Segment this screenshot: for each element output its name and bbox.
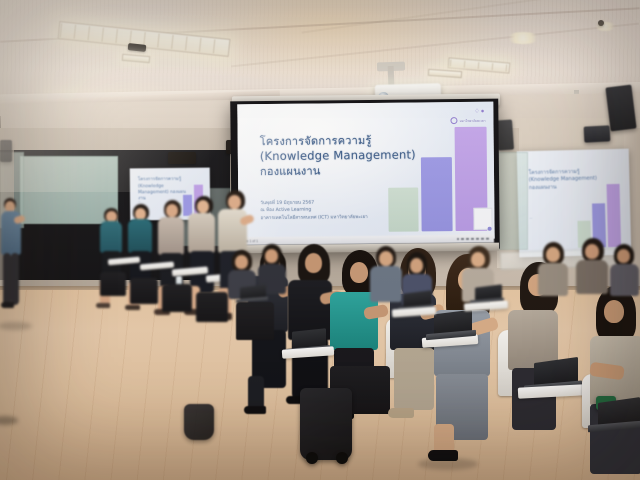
chair-base (162, 284, 192, 312)
seated-attendee (590, 286, 640, 480)
suitcase-wheel (336, 452, 348, 464)
logo-marks-icon: ♢● (450, 108, 485, 115)
wall-speaker (605, 85, 636, 132)
logo-ring-icon (451, 117, 458, 124)
logo-label: มหาวิทยาลัยพะเยา (451, 117, 486, 124)
rolling-suitcase (300, 388, 352, 460)
ceiling-downlight (506, 32, 540, 44)
status-icon[interactable] (461, 238, 464, 241)
status-icon[interactable] (481, 237, 484, 240)
seated-attendee (610, 244, 640, 298)
seated-attendee (538, 242, 570, 298)
chair-base (236, 302, 274, 340)
floor-reflection (0, 0, 380, 192)
ceiling-sprinkler (598, 20, 604, 26)
projector-mount-pole (388, 66, 395, 86)
laptop[interactable] (426, 312, 474, 338)
chair-base (196, 292, 228, 322)
lecture-hall-photo: โครงการจัดการความรู้ (Knowledge Manageme… (0, 0, 640, 480)
status-icon[interactable] (466, 238, 469, 241)
backpack (184, 404, 214, 440)
floor-shadow (418, 458, 478, 470)
seated-attendee (576, 238, 610, 296)
logo-text: มหาวิทยาลัยพะเยา (460, 118, 486, 122)
status-icon[interactable] (486, 237, 489, 240)
right-wall-projection-screen: โครงการจัดการความรู้ (Knowledge Manageme… (517, 149, 632, 258)
status-icon[interactable] (471, 238, 474, 241)
chair-base (130, 278, 158, 304)
status-icon[interactable] (476, 238, 479, 241)
standing-person (0, 198, 24, 328)
glass-wall-panel (498, 152, 528, 250)
status-bar-icons (456, 237, 489, 240)
chair-base (100, 272, 126, 296)
wall-monitor (584, 125, 611, 142)
laptop[interactable] (236, 286, 266, 302)
suitcase-wheel (306, 452, 318, 464)
laptop[interactable] (588, 400, 640, 430)
status-icon[interactable] (456, 238, 459, 241)
university-logo: ♢● มหาวิทยาลัยพะเยา (450, 108, 485, 124)
chart-dot-icon (488, 227, 492, 231)
